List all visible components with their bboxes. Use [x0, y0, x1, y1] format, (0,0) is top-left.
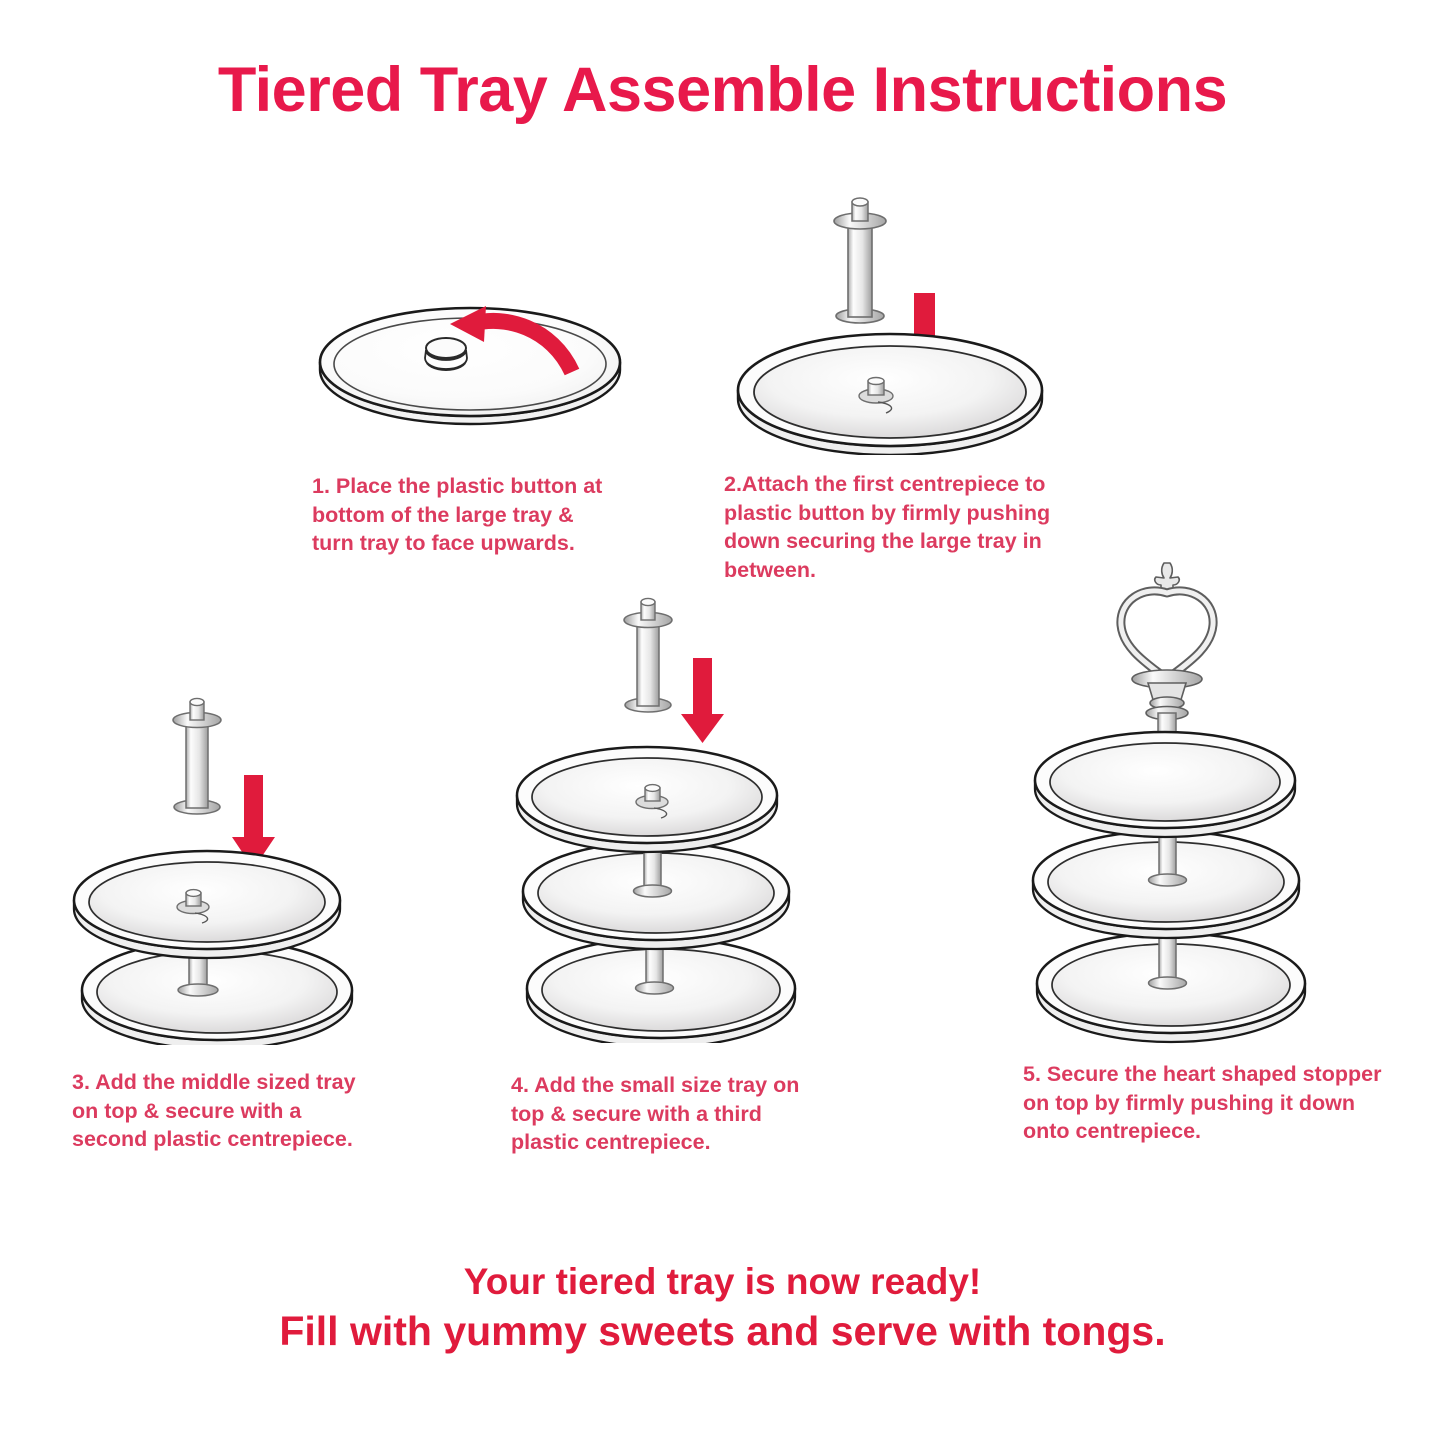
- small-tray: [1035, 732, 1295, 837]
- heart-shaped-stopper: [1121, 563, 1213, 720]
- centrepiece-rod: [834, 198, 886, 323]
- centrepiece-rod: [624, 598, 672, 712]
- footer-line-2: Fill with yummy sweets and serve with to…: [0, 1305, 1445, 1357]
- step-3: 3. Add the middle sized tray on top & se…: [62, 685, 402, 1165]
- step-1: 1. Place the plastic button at bottom of…: [300, 290, 640, 590]
- step-1-caption: 1. Place the plastic button at bottom of…: [312, 472, 612, 558]
- step-4: 4. Add the small size tray on top & secu…: [505, 588, 845, 1168]
- page-title: Tiered Tray Assemble Instructions: [0, 54, 1445, 126]
- step-2-caption: 2.Attach the first centrepiece to plasti…: [724, 470, 1054, 584]
- step-4-illustration: [505, 588, 835, 1043]
- plastic-button: [425, 338, 467, 371]
- step-2-illustration: [720, 185, 1060, 455]
- step-2: 2.Attach the first centrepiece to plasti…: [720, 185, 1090, 585]
- step-3-illustration: [62, 685, 392, 1045]
- step-3-caption: 3. Add the middle sized tray on top & se…: [72, 1068, 382, 1154]
- push-down-arrow-icon: [681, 658, 724, 743]
- footer-line-1: Your tiered tray is now ready!: [0, 1258, 1445, 1305]
- step-4-caption: 4. Add the small size tray on top & secu…: [511, 1071, 821, 1157]
- centrepiece-rod: [173, 698, 221, 814]
- step-1-illustration: [300, 290, 640, 460]
- step-5: 5. Secure the heart shaped stopper on to…: [1015, 555, 1365, 1155]
- step-5-caption: 5. Secure the heart shaped stopper on to…: [1023, 1060, 1383, 1146]
- step-5-illustration: [1015, 555, 1345, 1045]
- footer-message: Your tiered tray is now ready! Fill with…: [0, 1258, 1445, 1358]
- instruction-sheet: Tiered Tray Assemble Instructions: [0, 0, 1445, 1445]
